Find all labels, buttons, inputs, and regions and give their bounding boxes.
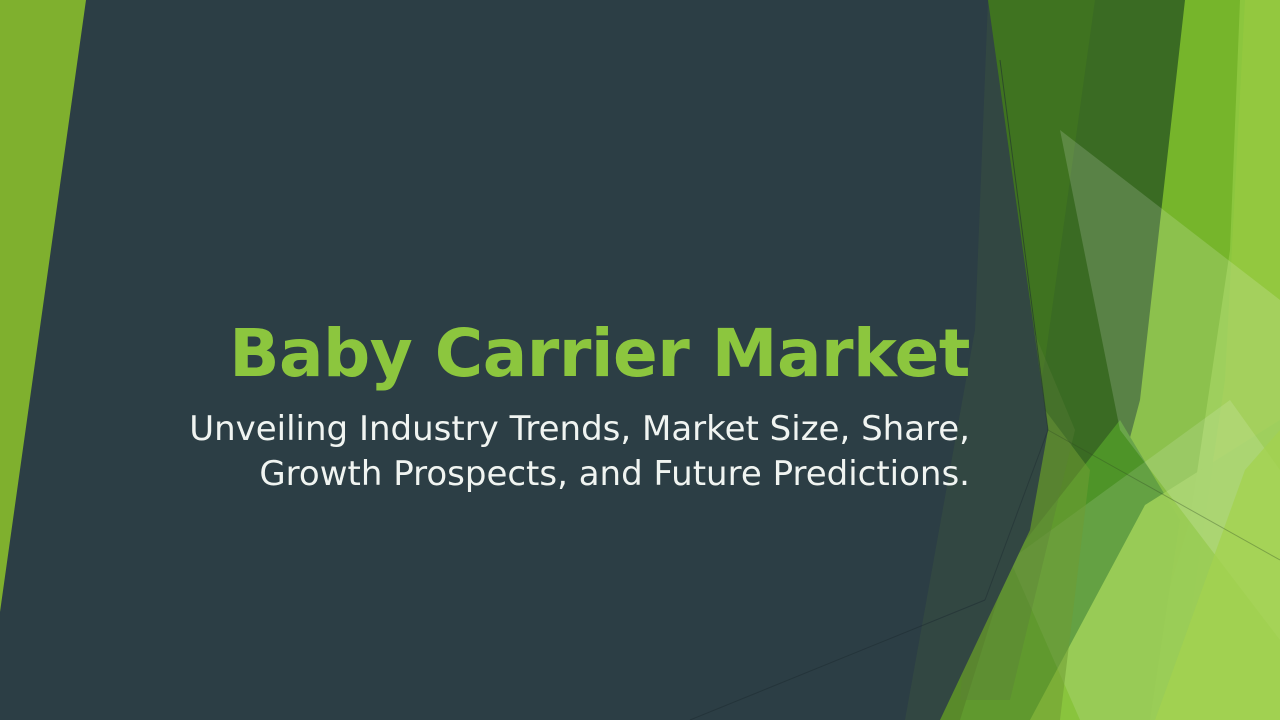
green-shape-bottom-sweep: [1030, 420, 1280, 720]
diagonal-hairline-mid: [985, 430, 1048, 600]
page-subtitle: Unveiling Industry Trends, Market Size, …: [150, 407, 970, 498]
left-green-wedge: [0, 0, 86, 612]
green-shape-muted-sliver: [960, 250, 1075, 700]
title-text-block: Baby Carrier Market Unveiling Industry T…: [150, 320, 970, 498]
green-shape-pale-overlay-upper: [1060, 130, 1280, 640]
green-shape-deep-wedge: [975, 0, 1190, 720]
page-title: Baby Carrier Market: [150, 320, 970, 389]
green-shape-bright-band: [1055, 0, 1240, 720]
green-shape-pale-overlay-lower: [1010, 400, 1280, 720]
diagonal-hairline-lower: [690, 600, 985, 720]
green-shape-light-strip: [1155, 430, 1280, 720]
green-shape-right-column: [1175, 0, 1280, 720]
green-shape-lower-mass: [960, 420, 1180, 720]
presentation-slide: Baby Carrier Market Unveiling Industry T…: [0, 0, 1280, 720]
diagonal-hairline-right: [1048, 430, 1280, 560]
diagonal-hairline-upper: [1000, 60, 1048, 430]
